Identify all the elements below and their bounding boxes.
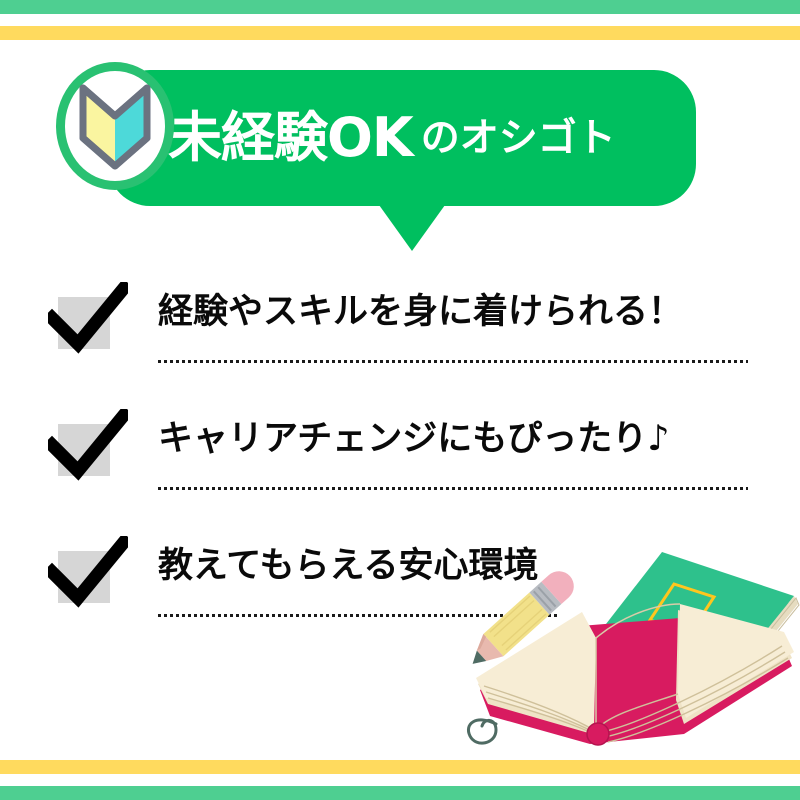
headline-sub: のオシゴト	[421, 119, 616, 158]
bottom-green-stripe	[0, 786, 800, 800]
books-and-pencil-illustration	[462, 538, 800, 768]
headline-main: 未経験OK	[168, 111, 413, 165]
top-yellow-stripe	[0, 26, 800, 40]
beginner-leaf-mark-badge	[56, 62, 174, 190]
list-item-divider	[158, 487, 748, 490]
bubble-tail	[379, 205, 445, 251]
check-icon	[48, 409, 128, 481]
check-icon	[48, 282, 128, 354]
list-item-label: キャリアチェンジにもぴったり♪	[158, 414, 670, 465]
poster-canvas: 未経験OK のオシゴト 経験やスキルを身に着けられる！ キャリアチェンジに	[0, 0, 800, 800]
doodle-squiggle-icon	[468, 720, 496, 743]
list-item: 経験やスキルを身に着けられる！	[0, 282, 800, 409]
beginner-leaf-mark-icon	[79, 82, 151, 170]
check-icon	[48, 536, 128, 608]
list-item: キャリアチェンジにもぴったり♪	[0, 409, 800, 536]
list-item-divider	[158, 360, 748, 363]
bubble-text-group: 未経験OK のオシゴト	[108, 70, 696, 206]
list-item-label: 経験やスキルを身に着けられる！	[158, 287, 683, 338]
top-green-stripe	[0, 0, 800, 14]
header-speech-bubble: 未経験OK のオシゴト	[108, 70, 696, 206]
